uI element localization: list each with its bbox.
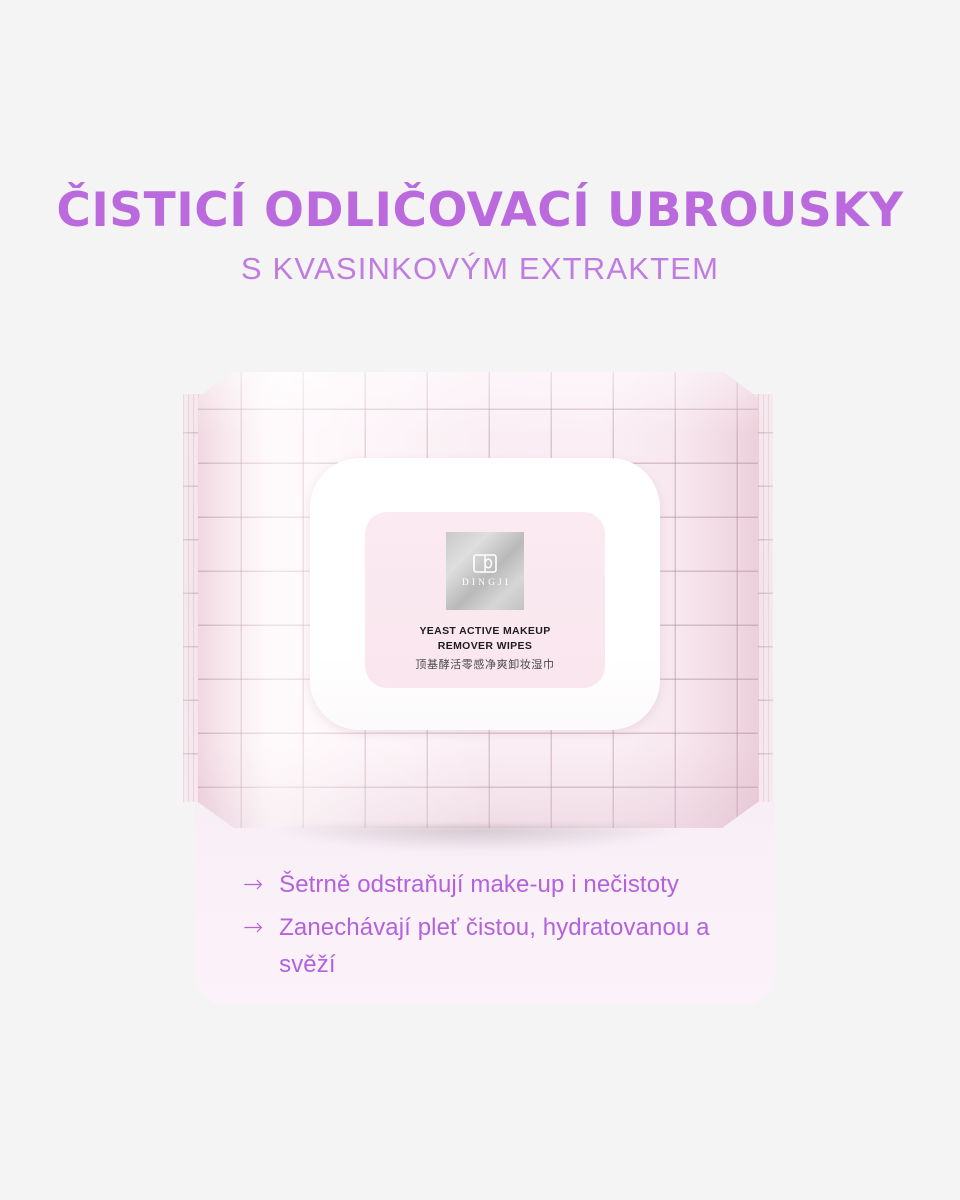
brand-logo-box: DINGJI (446, 532, 524, 610)
heading-block: ČISTICÍ ODLIČOVACÍ UBROUSKY S KVASINKOVÝ… (0, 186, 960, 286)
package-sticker: DINGJI YEAST ACTIVE MAKEUP REMOVER WIPES… (310, 458, 660, 730)
list-item: → Zanechávají pleť čistou, hydratovanou … (243, 909, 763, 983)
arrow-right-icon: → (243, 866, 263, 902)
benefit-text: Zanechávají pleť čistou, hydratovanou a … (279, 909, 763, 983)
product-label: DINGJI YEAST ACTIVE MAKEUP REMOVER WIPES… (365, 512, 605, 688)
product-name-cn: 顶基酵活零感净爽卸妆湿巾 (365, 658, 605, 671)
benefits-list: → Šetrně odstraňují make-up i nečistoty … (243, 866, 763, 990)
product-banner: ČISTICÍ ODLIČOVACÍ UBROUSKY S KVASINKOVÝ… (0, 0, 960, 1200)
product-name-line1: YEAST ACTIVE MAKEUP (365, 624, 605, 639)
product-name-line2: REMOVER WIPES (365, 639, 605, 654)
product-name-en: YEAST ACTIVE MAKEUP REMOVER WIPES (365, 624, 605, 654)
dingji-open-book-monogram-icon (473, 554, 497, 573)
page-subtitle: S KVASINKOVÝM EXTRAKTEM (0, 236, 960, 286)
list-item: → Šetrně odstraňují make-up i nečistoty (243, 866, 763, 903)
benefit-text: Šetrně odstraňují make-up i nečistoty (279, 866, 679, 903)
package-bottom-shadow (275, 826, 681, 852)
brand-name: DINGJI (459, 579, 511, 589)
page-title: ČISTICÍ ODLIČOVACÍ UBROUSKY (0, 186, 960, 236)
arrow-right-icon: → (243, 909, 263, 945)
